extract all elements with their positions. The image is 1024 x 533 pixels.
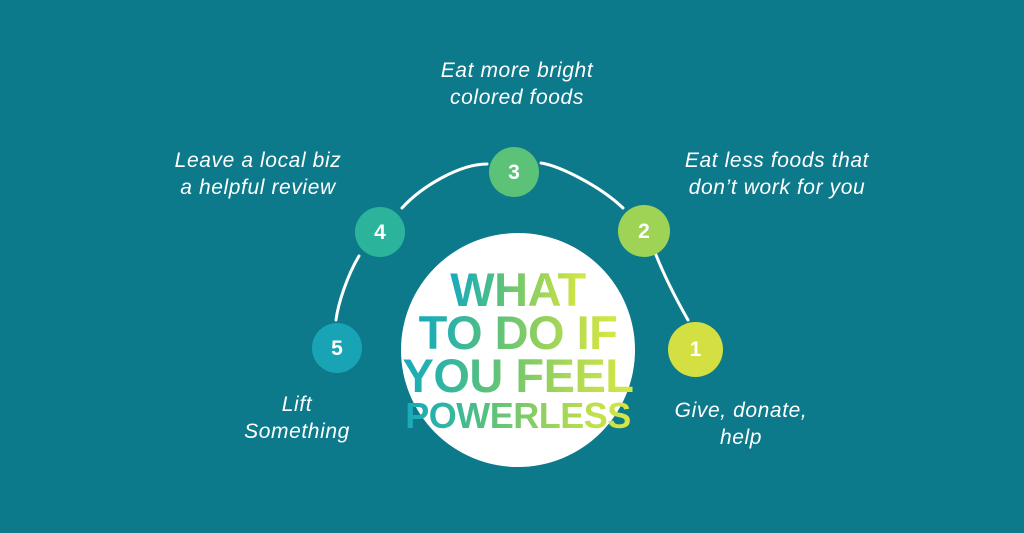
step-node-1-number: 1 — [690, 339, 702, 360]
connector-arc-4-5 — [336, 256, 359, 320]
step-label-3: Eat more bright colored foods — [406, 58, 628, 112]
step-label-4: Leave a local biz a helpful review — [150, 148, 366, 202]
center-title-line-4: POWERLESS — [405, 399, 631, 432]
step-node-4[interactable]: 4 — [355, 207, 405, 257]
center-title-line-2: TO DO IF — [419, 311, 618, 354]
step-label-2-line-1: Eat less foods that — [662, 148, 892, 175]
step-node-3-number: 3 — [508, 162, 520, 183]
step-label-2: Eat less foods that don’t work for you — [662, 148, 892, 202]
step-label-5: Lift Something — [212, 392, 382, 446]
step-label-4-line-2: a helpful review — [150, 175, 366, 202]
connector-arc-3-4 — [402, 164, 487, 208]
step-label-1-line-1: Give, donate, — [646, 398, 836, 425]
step-label-1-line-2: help — [646, 425, 836, 452]
step-node-2[interactable]: 2 — [618, 205, 670, 257]
step-node-4-number: 4 — [374, 222, 386, 243]
center-title-line-1: WHAT — [450, 268, 585, 311]
step-node-2-number: 2 — [638, 221, 650, 242]
step-label-5-line-1: Lift — [212, 392, 382, 419]
step-label-3-line-1: Eat more bright — [406, 58, 628, 85]
center-title-line-3: YOU FEEL — [402, 354, 633, 397]
step-label-5-line-2: Something — [212, 419, 382, 446]
step-label-1: Give, donate, help — [646, 398, 836, 452]
connector-arc-2-3 — [541, 163, 623, 208]
step-node-1[interactable]: 1 — [668, 322, 723, 377]
step-node-5[interactable]: 5 — [312, 323, 362, 373]
step-node-3[interactable]: 3 — [489, 147, 539, 197]
center-title: WHAT TO DO IF YOU FEEL POWERLESS — [401, 233, 635, 467]
infographic-canvas: WHAT TO DO IF YOU FEEL POWERLESS 1 2 3 4… — [0, 0, 1024, 533]
step-label-4-line-1: Leave a local biz — [150, 148, 366, 175]
step-label-3-line-2: colored foods — [406, 85, 628, 112]
step-node-5-number: 5 — [331, 338, 343, 359]
step-label-2-line-2: don’t work for you — [662, 175, 892, 202]
